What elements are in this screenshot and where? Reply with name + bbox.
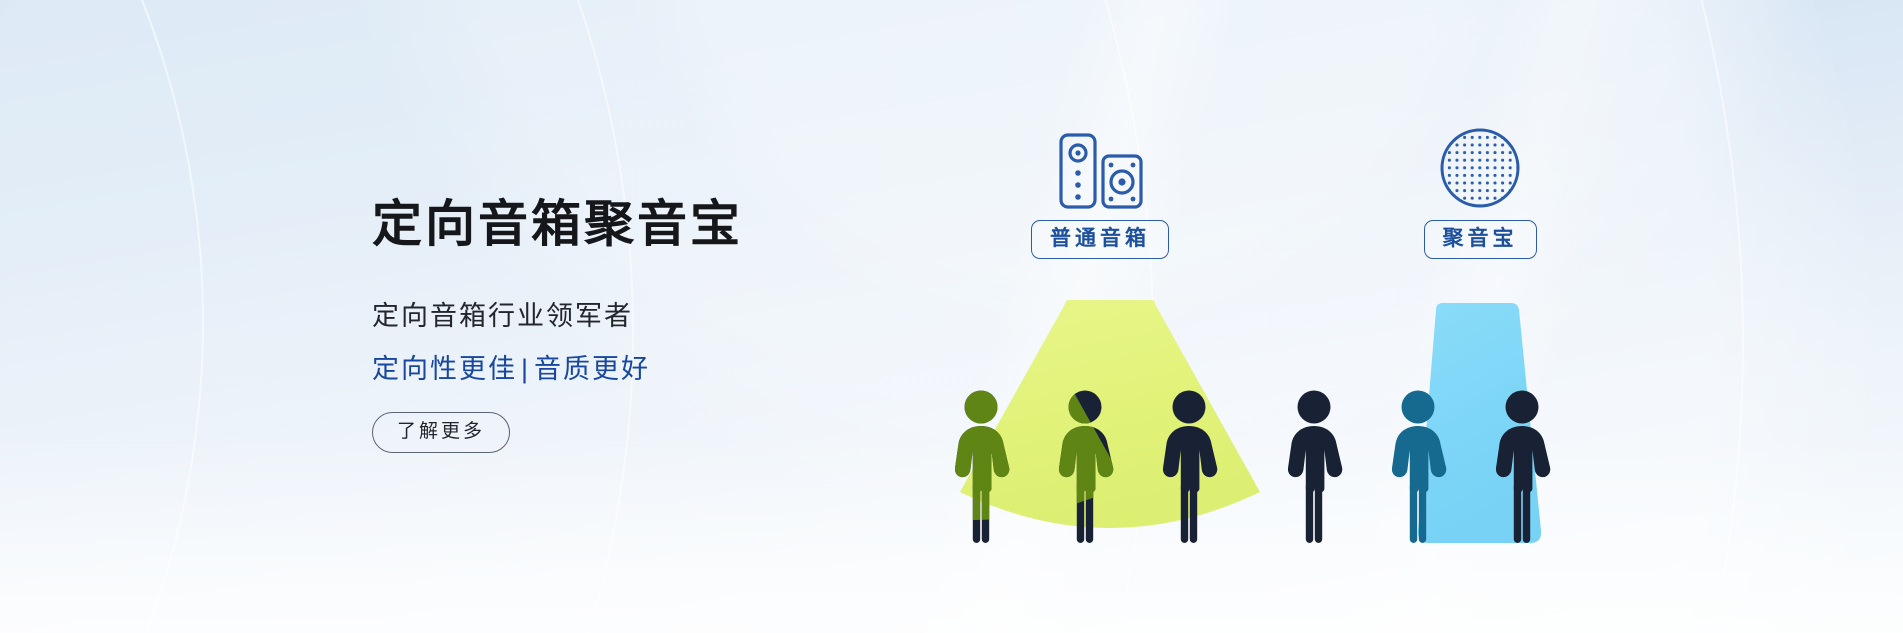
directional-audience-group	[1288, 390, 1598, 555]
hero-banner: 定向音箱聚音宝 定向音箱行业领军者 定向性更佳|音质更好 了解更多	[0, 0, 1903, 633]
perforated-disc-speaker-icon	[1390, 130, 1570, 210]
ordinary-audience-group	[955, 390, 1265, 555]
directional-speaker-device: 聚音宝	[1390, 130, 1570, 259]
directional-speaker-label: 聚音宝	[1424, 220, 1537, 259]
stereo-speakers-icon	[1020, 130, 1180, 210]
ordinary-speaker-device: 普通音箱	[1020, 130, 1180, 259]
ordinary-speaker-label: 普通音箱	[1031, 220, 1169, 259]
comparison-illustration: 普通音箱	[0, 0, 1903, 633]
